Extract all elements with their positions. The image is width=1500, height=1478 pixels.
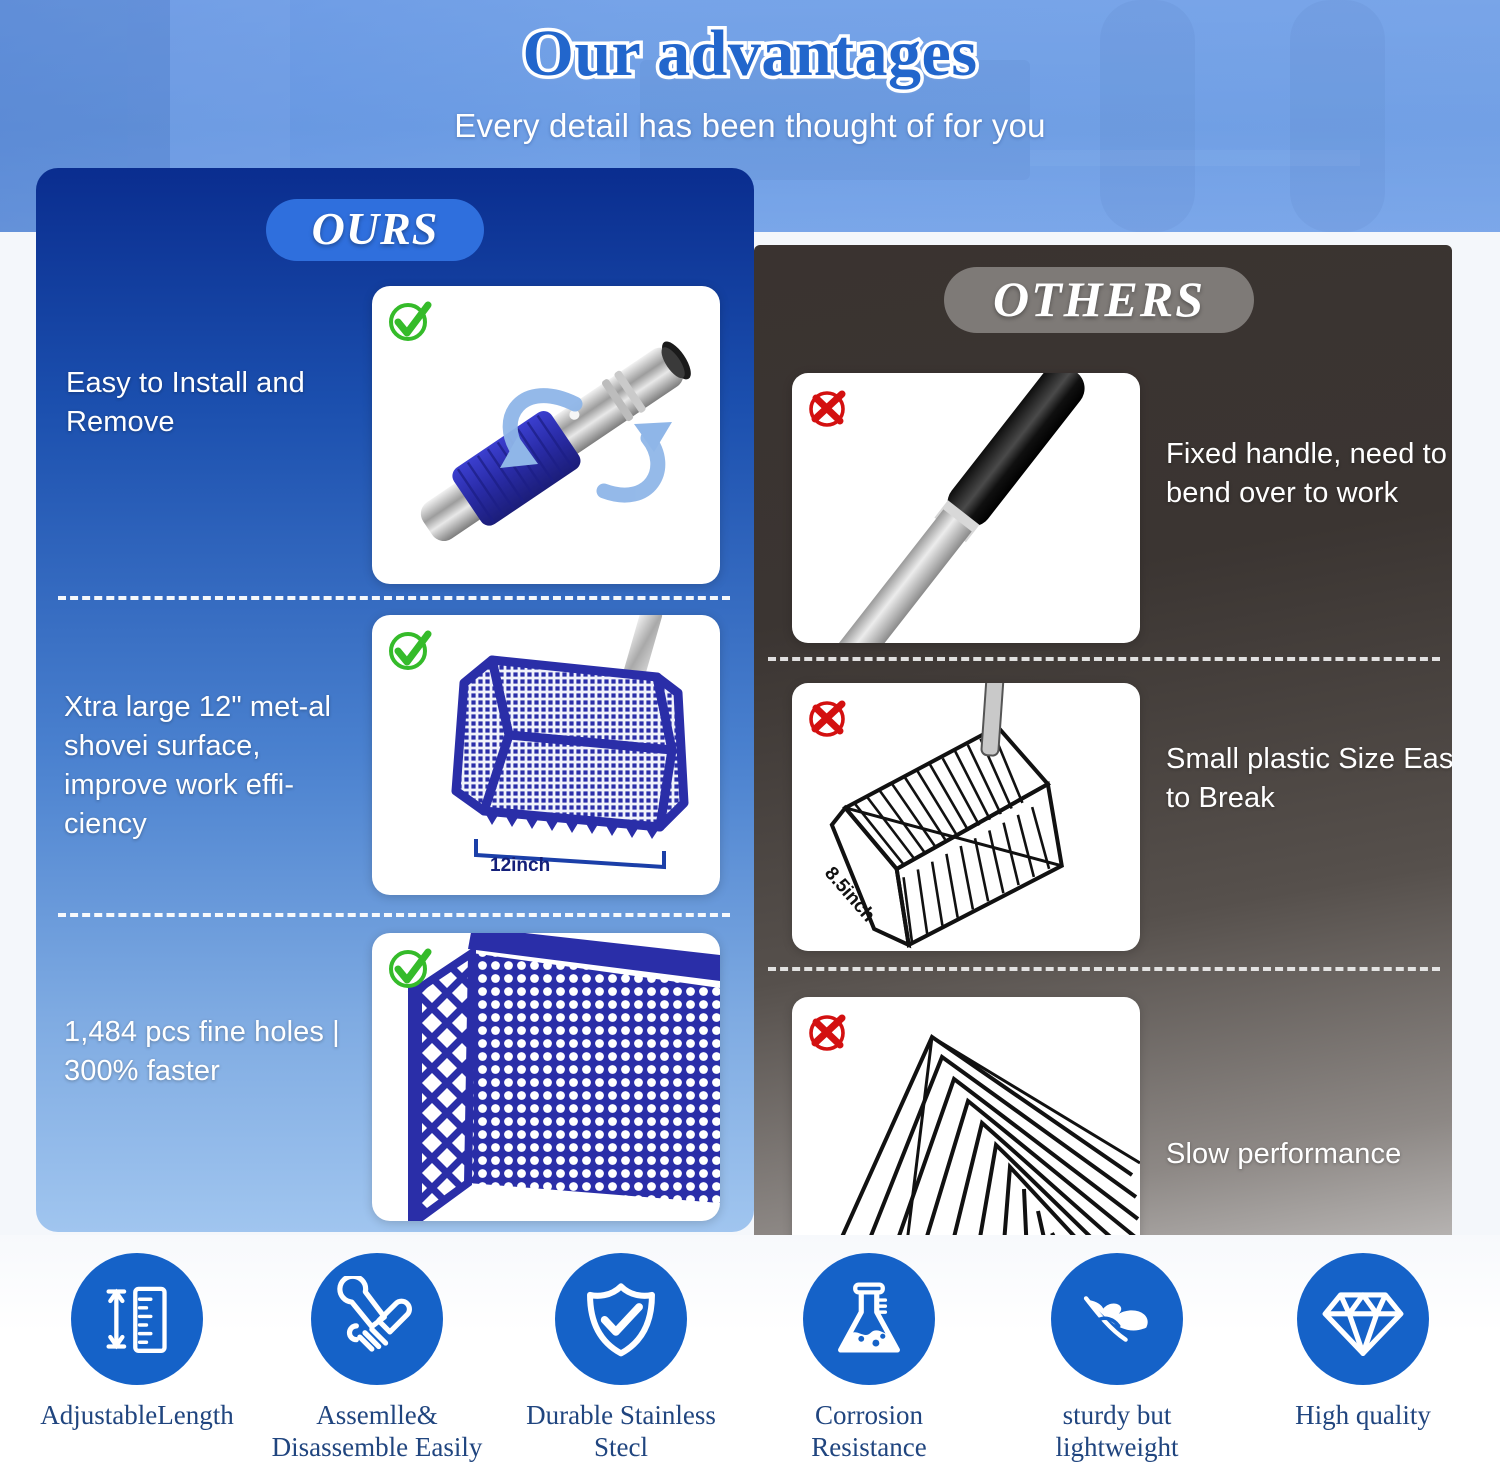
ours-row-1-photo xyxy=(372,286,720,584)
others-badge: OTHERS xyxy=(944,267,1254,333)
ours-dimension-label: 12inch xyxy=(490,855,550,877)
green-check-icon xyxy=(386,945,432,991)
feature-label: Assemlle&Disassemble Easily xyxy=(252,1399,502,1463)
shield-check-icon xyxy=(555,1253,687,1385)
ours-panel: OURS Easy to Install and Remove xyxy=(36,168,754,1232)
feature-sturdy-lightweight: sturdy butlightweight xyxy=(992,1253,1242,1463)
ours-row-2-photo: 12inch xyxy=(372,615,720,895)
feature-strip: AdjustableLength Assemlle&Disassemble Ea… xyxy=(0,1235,1500,1478)
flask-icon xyxy=(803,1253,935,1385)
feature-high-quality: High quality xyxy=(1238,1253,1488,1431)
diamond-icon xyxy=(1297,1253,1429,1385)
infographic-page: Our advantages Every detail has been tho… xyxy=(0,0,1500,1478)
feature-label: sturdy butlightweight xyxy=(992,1399,1242,1463)
ours-row-3-photo xyxy=(372,933,720,1221)
comparison-section: OURS Easy to Install and Remove xyxy=(0,165,1500,1235)
feature-label: AdjustableLength xyxy=(12,1399,262,1431)
others-divider-2 xyxy=(768,967,1440,971)
feature-durable-stainless-steel: Durable StainlessStecl xyxy=(496,1253,746,1463)
ours-row-1-text: Easy to Install and Remove xyxy=(66,364,366,442)
ruler-icon xyxy=(71,1253,203,1385)
wrench-hand-icon xyxy=(311,1253,443,1385)
green-check-icon xyxy=(386,627,432,673)
ours-row-3-text: 1,484 pcs fine holes | 300% faster xyxy=(64,1013,384,1091)
others-row-2-photo: 8.5inch xyxy=(792,683,1140,951)
feature-assemble-disassemble: Assemlle&Disassemble Easily xyxy=(252,1253,502,1463)
page-subtitle: Every detail has been thought of for you xyxy=(0,104,1500,148)
red-cross-icon xyxy=(806,385,852,431)
others-panel: OTHERS xyxy=(754,245,1452,1400)
feature-label: High quality xyxy=(1238,1399,1488,1431)
feature-adjustable-length: AdjustableLength xyxy=(12,1253,262,1431)
feature-label: Durable StainlessStecl xyxy=(496,1399,746,1463)
others-divider-1 xyxy=(768,657,1440,661)
green-check-icon xyxy=(386,298,432,344)
ours-row-2-text: Xtra large 12" met-al shovei surface, im… xyxy=(64,688,364,844)
feature-corrosion-resistance: CorrosionResistance xyxy=(744,1253,994,1463)
page-title: Our advantages xyxy=(0,14,1500,94)
ours-badge: OURS xyxy=(266,199,484,261)
others-row-1-photo xyxy=(792,373,1140,643)
feather-icon xyxy=(1051,1253,1183,1385)
red-cross-icon xyxy=(806,1009,852,1055)
others-row-1-text: Fixed handle, need to bend over to work xyxy=(1166,435,1452,513)
feature-label: CorrosionResistance xyxy=(744,1399,994,1463)
others-row-3-text: Slow performance xyxy=(1166,1135,1452,1174)
red-cross-icon xyxy=(806,695,852,741)
ours-divider-1 xyxy=(58,596,730,600)
others-row-2-text: Small plastic Size Easy to Break xyxy=(1166,740,1452,818)
ours-divider-2 xyxy=(58,913,730,917)
